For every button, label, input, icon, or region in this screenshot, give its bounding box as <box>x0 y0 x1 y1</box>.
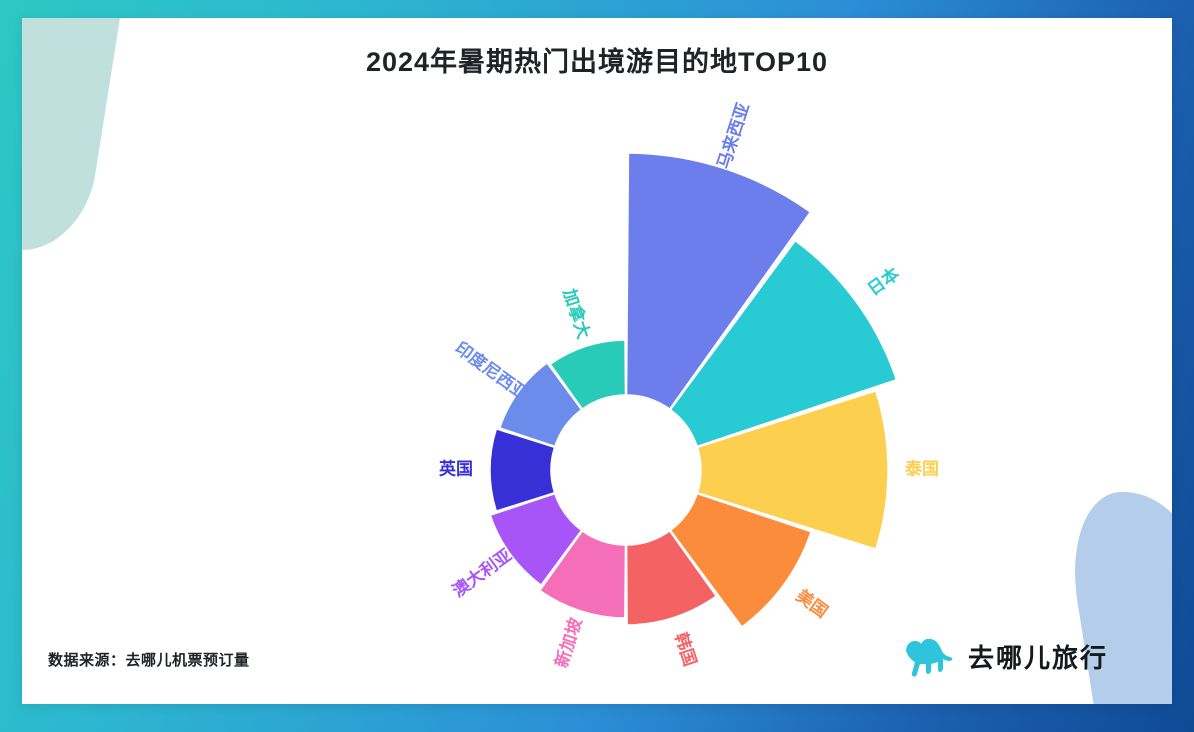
slice-label-8: 英国 <box>439 458 473 478</box>
brand-logo: 去哪儿旅行 <box>900 634 1108 678</box>
rose-chart: 马来西亚日本泰国美国韩国新加坡澳大利亚英国印度尼西亚加拿大 <box>22 18 1172 694</box>
slice-label-1: 马来西亚 <box>713 100 753 171</box>
slice-label-9: 印度尼西亚 <box>452 338 533 404</box>
source-note: 数据来源：去哪儿机票预订量 <box>48 649 250 670</box>
slice-label-3: 泰国 <box>905 458 939 478</box>
content-card: 2024年暑期热门出境游目的地TOP10 马来西亚日本泰国美国韩国新加坡澳大利亚… <box>22 18 1172 704</box>
slices-layer <box>490 153 896 627</box>
brand-name: 去哪儿旅行 <box>968 638 1108 675</box>
slice-label-10: 加拿大 <box>559 285 594 341</box>
slice-label-6: 新加坡 <box>551 615 586 670</box>
slice-label-5: 韩国 <box>671 630 701 669</box>
slice-label-2: 日本 <box>864 263 903 299</box>
slice-label-7: 澳大利亚 <box>449 545 516 601</box>
slide-canvas: 2024年暑期热门出境游目的地TOP10 马来西亚日本泰国美国韩国新加坡澳大利亚… <box>0 0 1194 732</box>
camel-icon <box>900 634 956 678</box>
rose-chart-svg: 马来西亚日本泰国美国韩国新加坡澳大利亚英国印度尼西亚加拿大 <box>22 18 1172 694</box>
slice-label-4: 美国 <box>793 585 832 621</box>
